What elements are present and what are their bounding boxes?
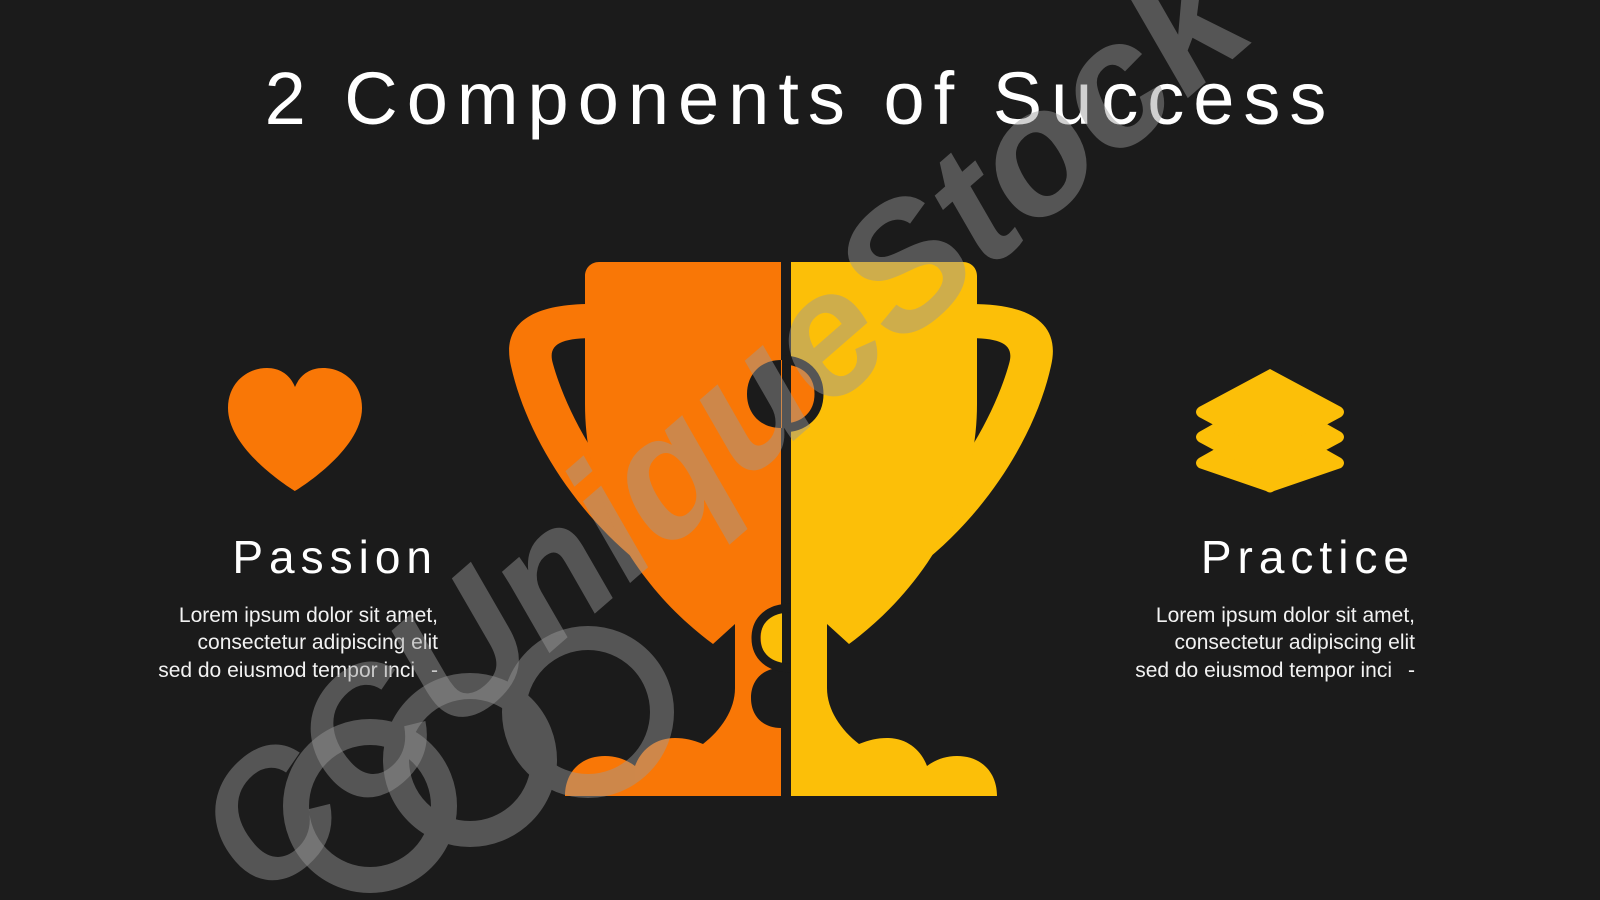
body-line: Lorem ipsum dolor sit amet, — [108, 602, 438, 629]
body-line-text: sed do eiusmod tempor inci — [158, 659, 415, 682]
body-line-last: sed do eiusmod tempor inci- — [108, 657, 438, 684]
page-title: 2 Components of Success — [0, 58, 1600, 139]
trailing-dash: - — [1392, 659, 1415, 682]
right-cup-body — [761, 262, 997, 796]
body-line-text: sed do eiusmod tempor inci — [1135, 659, 1392, 682]
body-line: consectetur adipiscing elit — [108, 629, 438, 656]
body-line-last: sed do eiusmod tempor inci- — [1085, 657, 1415, 684]
trailing-dash: - — [415, 659, 438, 682]
body-passion: Lorem ipsum dolor sit amet, consectetur … — [108, 602, 438, 684]
heading-practice: Practice — [1085, 534, 1415, 580]
left-cup-body — [565, 262, 781, 796]
body-practice: Lorem ipsum dolor sit amet, consectetur … — [1085, 602, 1415, 684]
trophy-left-half — [509, 262, 781, 796]
puzzle-trophy-graphic — [495, 248, 1067, 796]
body-line: Lorem ipsum dolor sit amet, — [1085, 602, 1415, 629]
layers-icon — [1195, 360, 1345, 500]
slide-canvas: 2 Components of Success — [0, 0, 1600, 900]
puzzle-seam — [782, 262, 791, 796]
body-line: consectetur adipiscing elit — [1085, 629, 1415, 656]
column-passion: Passion Lorem ipsum dolor sit amet, cons… — [108, 360, 438, 684]
trophy-right-half — [761, 262, 1053, 796]
heart-icon — [220, 360, 370, 500]
column-practice: Practice Lorem ipsum dolor sit amet, con… — [1085, 360, 1415, 684]
heading-passion: Passion — [108, 534, 438, 580]
